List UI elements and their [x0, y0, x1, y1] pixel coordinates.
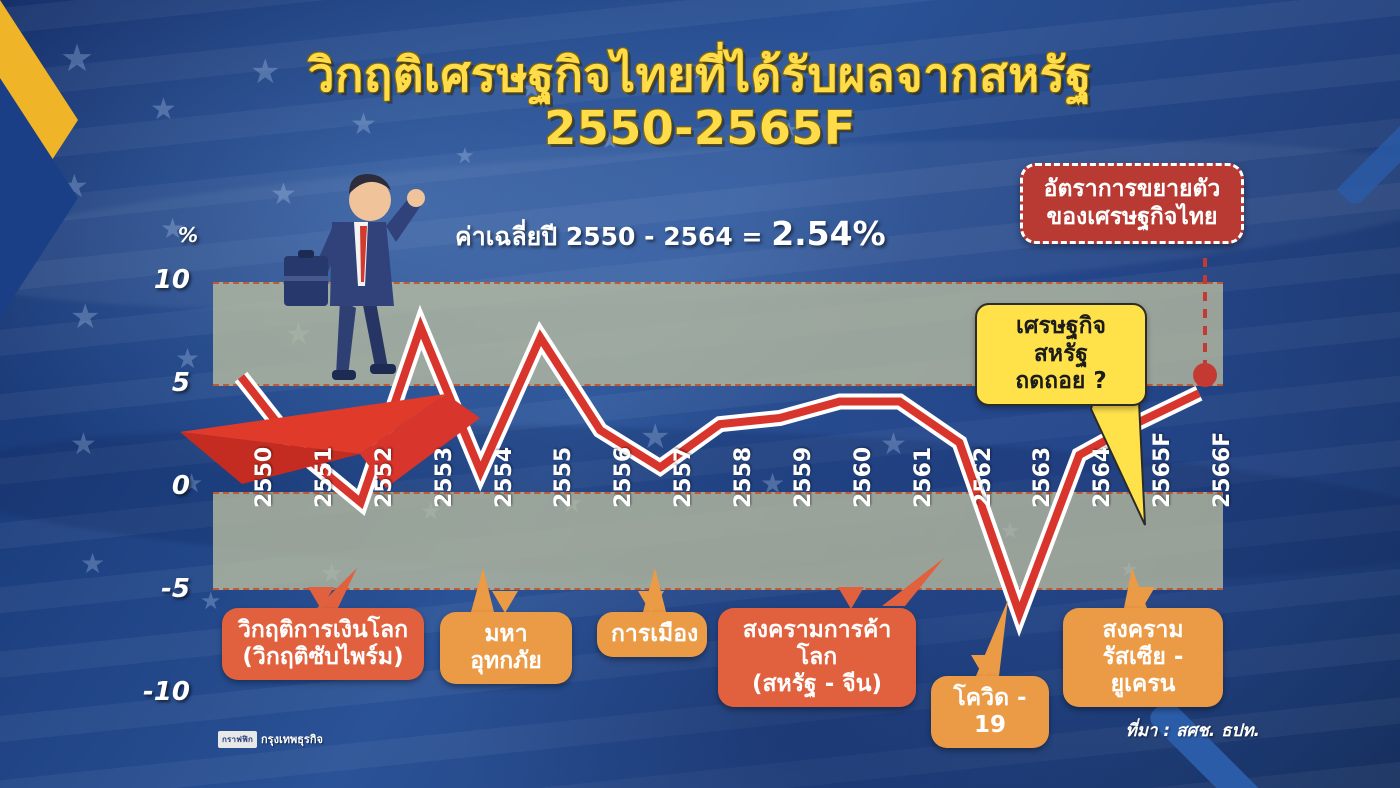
star-icon: ★: [80, 550, 105, 578]
x-axis-tick-2560: 2560: [851, 447, 876, 508]
x-axis-tick-2561: 2561: [911, 447, 936, 508]
callout-tail: [1129, 587, 1155, 609]
y-axis-tick-10: 10: [130, 265, 190, 295]
x-axis-tick-2559: 2559: [791, 447, 816, 508]
watermark-label: กรุงเทพธุรกิจ: [261, 730, 323, 748]
badge-growth-rate: อัตราการขยายตัว ของเศรษฐกิจไทย: [1020, 163, 1244, 244]
x-axis-tick-2555: 2555: [551, 447, 576, 508]
watermark-badge: กราฟฟิก: [218, 731, 257, 748]
watermark: กราฟฟิก กรุงเทพธุรกิจ: [218, 730, 323, 748]
average-value: 2.54%: [771, 214, 886, 253]
x-axis-tick-2557: 2557: [671, 447, 696, 508]
callout-tail: [308, 587, 334, 609]
source-note: ที่มา : สศช. ธปท.: [1125, 717, 1260, 744]
callout-great-flood: มหาอุทกภัย: [440, 612, 572, 684]
y-axis-tick-0: 0: [130, 471, 190, 501]
callout-politics: การเมือง: [597, 612, 707, 657]
x-axis-tick-2556: 2556: [611, 447, 636, 508]
callout-tail: [971, 655, 997, 677]
title-line-1: วิกฤติเศรษฐกิจไทยที่ได้รับผลจากสหรัฐ: [0, 50, 1400, 103]
star-icon: ★: [200, 590, 222, 614]
average-note: ค่าเฉลี่ยปี 2550 - 2564 = 2.54%: [455, 214, 886, 257]
callout-covid19: โควิด - 19: [931, 676, 1049, 748]
infographic-stage: ★★★★★★★★★★★★★★★★★★★★★★★★★★★★★★ วิกฤติเศร…: [0, 0, 1400, 788]
average-prefix: ค่าเฉลี่ยปี 2550 - 2564 =: [455, 222, 771, 251]
x-axis-tick-2551: 2551: [312, 447, 337, 508]
y-axis-tick-5: 5: [130, 368, 190, 398]
x-axis-tick-2558: 2558: [731, 447, 756, 508]
x-axis-tick-2550: 2550: [252, 447, 277, 508]
callout-subprime-crisis: วิกฤติการเงินโลก (วิกฤติซับไพร์ม): [222, 608, 424, 680]
callout-russia-ukraine-war: สงคราม รัสเซีย - ยูเครน: [1063, 608, 1223, 707]
x-axis-tick-2553: 2553: [432, 447, 457, 508]
title-line-2: 2550-2565F: [0, 103, 1400, 155]
star-icon: ★: [70, 430, 97, 460]
callout-trade-war: สงครามการค้าโลก (สหรัฐ - จีน): [718, 608, 916, 707]
callout-tail: [638, 591, 664, 613]
y-axis-tick-minus10: -10: [130, 677, 190, 707]
callout-tail: [838, 587, 864, 609]
x-axis-tick-2552: 2552: [372, 447, 397, 508]
y-axis-tick-minus5: -5: [130, 574, 190, 604]
x-axis-tick-2562: 2562: [971, 447, 996, 508]
x-axis-tick-2554: 2554: [492, 447, 517, 508]
badge-us-recession: เศรษฐกิจสหรัฐ ถดถอย ?: [975, 303, 1147, 406]
x-axis-tick-2563: 2563: [1030, 447, 1055, 508]
page-title: วิกฤติเศรษฐกิจไทยที่ได้รับผลจากสหรัฐ 255…: [0, 50, 1400, 154]
callout-tail: [492, 591, 518, 613]
y-axis-unit-label: %: [178, 223, 198, 247]
